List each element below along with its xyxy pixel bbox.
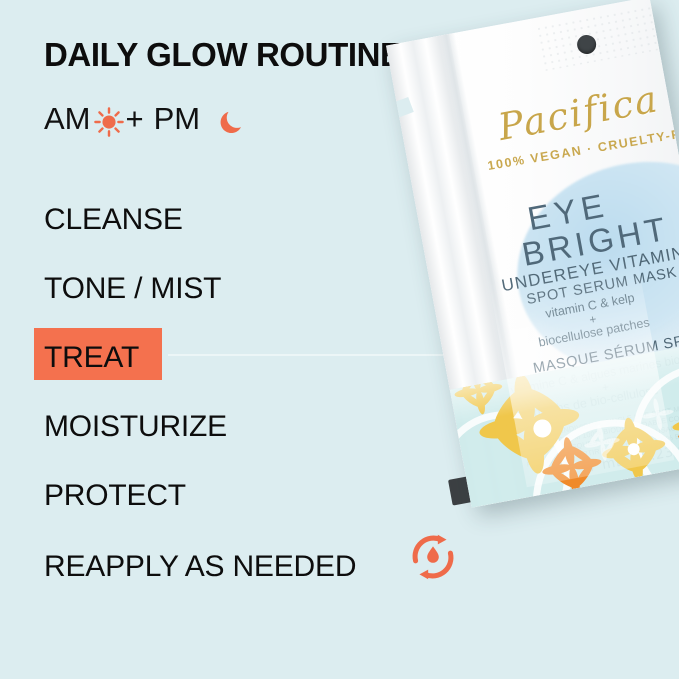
routine-step-label: REAPPLY AS NEEDED	[44, 550, 356, 583]
routine-step-label: CLEANSE	[44, 203, 183, 236]
routine-step-protect[interactable]: PROTECT	[44, 481, 186, 511]
texture-dots	[535, 4, 661, 71]
routine-step-list: CLEANSE TONE / MIST TREAT MOISTURIZE PRO…	[0, 0, 420, 679]
routine-step-moisturize[interactable]: MOISTURIZE	[44, 412, 227, 442]
routine-step-label: TREAT	[44, 341, 139, 374]
routine-step-label: MOISTURIZE	[44, 410, 227, 443]
routine-step-treat[interactable]: TREAT	[44, 343, 139, 373]
routine-step-tone-mist[interactable]: TONE / MIST	[44, 274, 221, 304]
package-front: Pacifica 100% VEGAN · CRUELTY-FREE EYE B…	[386, 0, 679, 508]
poster-canvas: DAILY GLOW ROUTINE AM + PM CLEAN	[0, 0, 679, 679]
routine-step-label: TONE / MIST	[44, 272, 221, 305]
routine-step-label: PROTECT	[44, 479, 186, 512]
routine-step-reapply[interactable]: REAPPLY AS NEEDED	[44, 552, 356, 582]
routine-step-cleanse[interactable]: CLEANSE	[44, 205, 183, 235]
product-package: Pacifica 100% VEGAN · CRUELTY-FREE EYE B…	[418, 18, 679, 538]
